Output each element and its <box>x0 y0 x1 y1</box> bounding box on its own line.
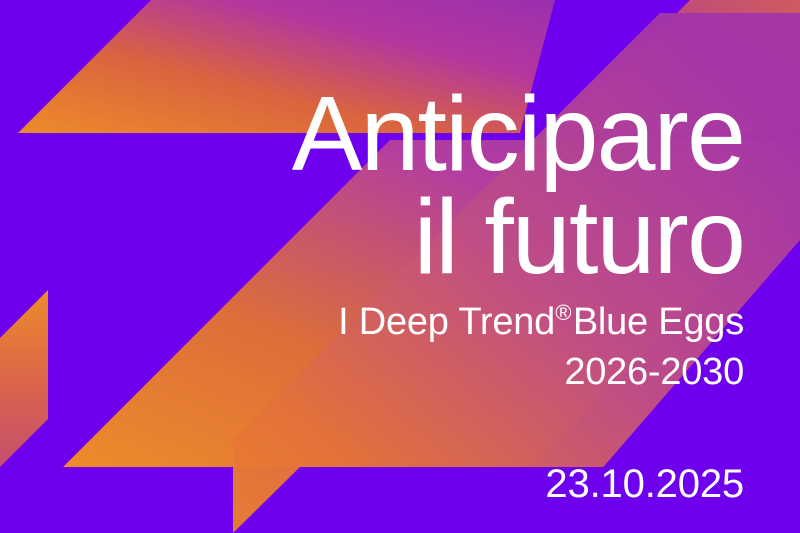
brand-prefix: I Deep Trend <box>338 301 555 343</box>
subtitle-brand-line: I Deep Trend®Blue Eggs <box>24 297 744 347</box>
promotional-poster: Anticipare il futuro I Deep Trend®Blue E… <box>0 0 800 533</box>
page-title: Anticipare il futuro <box>24 83 744 289</box>
event-date: 23.10.2025 <box>24 462 744 506</box>
registered-trademark-icon: ® <box>555 300 571 325</box>
subtitle-year-range: 2026-2030 <box>24 347 744 397</box>
poster-text-layer: Anticipare il futuro I Deep Trend®Blue E… <box>0 0 800 533</box>
poster-subtitle: I Deep Trend®Blue Eggs 2026-2030 <box>24 297 744 397</box>
headline-line-2: il futuro <box>24 186 744 289</box>
headline-line-1: Anticipare <box>24 83 744 186</box>
brand-suffix: Blue Eggs <box>573 301 744 343</box>
